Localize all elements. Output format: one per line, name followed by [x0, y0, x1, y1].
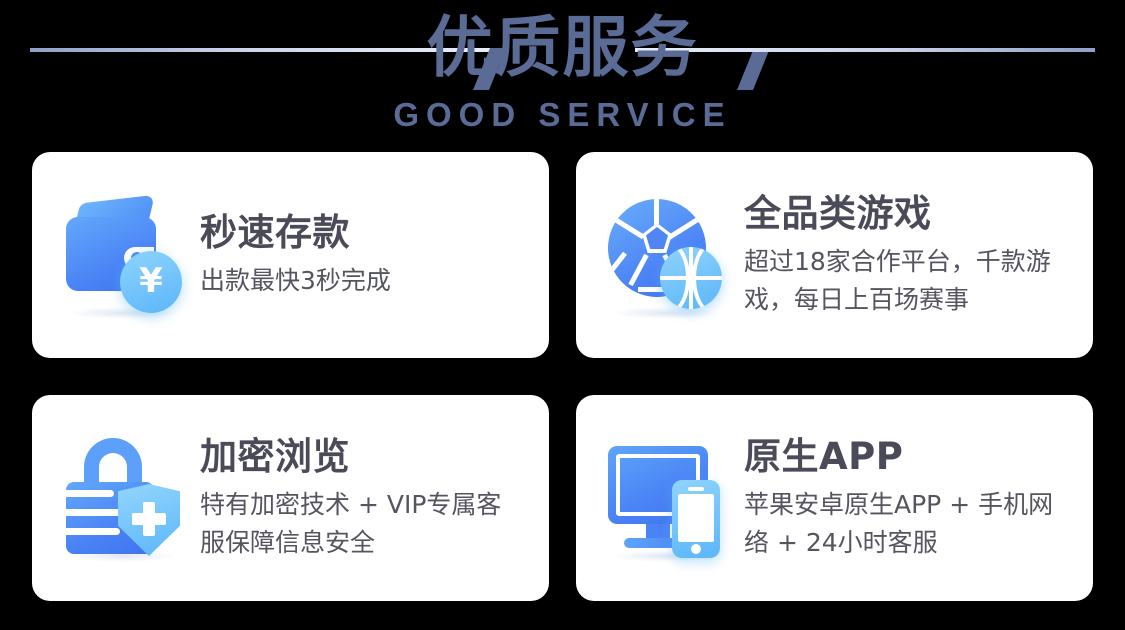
card-title: 原生APP — [744, 434, 1089, 480]
basketball-icon — [660, 247, 722, 309]
page-title: 优质服务 — [0, 6, 1125, 90]
card-subtitle: 特有加密技术 + VIP专属客服保障信息安全 — [200, 486, 520, 562]
monitor-phone-icon — [602, 432, 734, 564]
soccer-basketball-icon — [602, 189, 734, 321]
card-subtitle: 苹果安卓原生APP + 手机网络 + 24小时客服 — [744, 486, 1064, 562]
page-header: 优质服务 GOOD SERVICE — [0, 0, 1125, 145]
card-title: 全品类游戏 — [744, 191, 1089, 237]
card-subtitle: 超过18家合作平台，千款游戏，每日上百场赛事 — [744, 243, 1064, 319]
feature-card-encrypted-browsing[interactable]: 加密浏览 特有加密技术 + VIP专属客服保障信息安全 — [32, 395, 549, 601]
smartphone-icon — [672, 480, 720, 558]
wallet-yen-icon: ¥ — [58, 189, 190, 321]
lock-shield-icon — [58, 432, 190, 564]
feature-card-native-app[interactable]: 原生APP 苹果安卓原生APP + 手机网络 + 24小时客服 — [576, 395, 1093, 601]
card-title: 加密浏览 — [200, 434, 545, 480]
page-subtitle: GOOD SERVICE — [0, 96, 1125, 134]
card-subtitle: 出款最快3秒完成 — [200, 262, 545, 300]
card-title: 秒速存款 — [200, 210, 545, 256]
feature-card-all-games[interactable]: 全品类游戏 超过18家合作平台，千款游戏，每日上百场赛事 — [576, 152, 1093, 358]
feature-card-instant-deposit[interactable]: ¥ 秒速存款 出款最快3秒完成 — [32, 152, 549, 358]
card-text-block: 原生APP 苹果安卓原生APP + 手机网络 + 24小时客服 — [744, 434, 1089, 562]
card-text-block: 秒速存款 出款最快3秒完成 — [200, 210, 545, 300]
card-text-block: 加密浏览 特有加密技术 + VIP专属客服保障信息安全 — [200, 434, 545, 562]
feature-card-grid: ¥ 秒速存款 出款最快3秒完成 — [32, 152, 1093, 601]
card-text-block: 全品类游戏 超过18家合作平台，千款游戏，每日上百场赛事 — [744, 191, 1089, 319]
yen-coin-icon: ¥ — [120, 251, 182, 313]
